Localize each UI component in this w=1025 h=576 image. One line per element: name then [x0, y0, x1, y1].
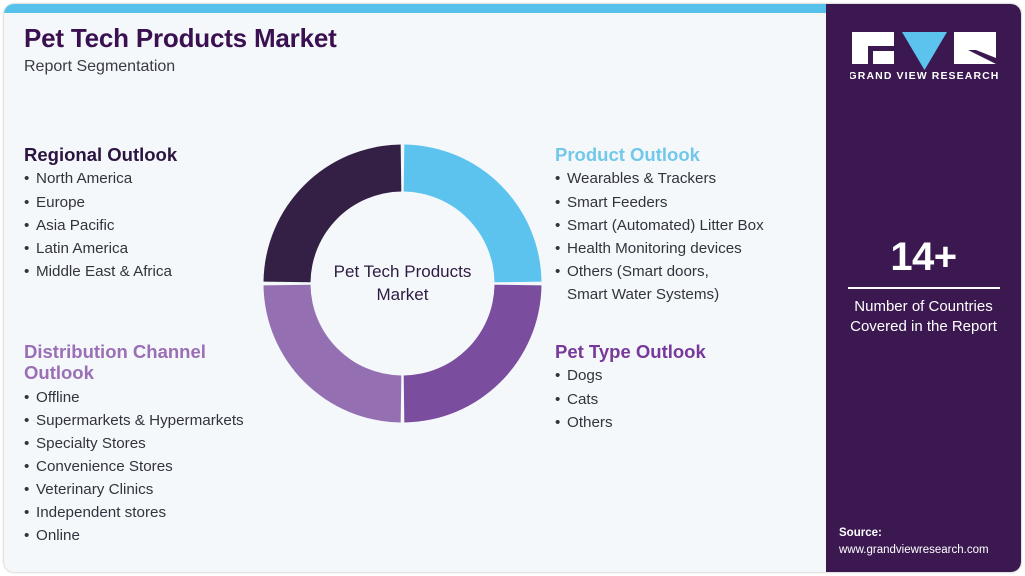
list-item: North America [24, 167, 274, 190]
segment-block-product: Product Outlook Wearables & Trackers Sma… [555, 144, 823, 306]
list-item: Smart Feeders [555, 191, 823, 214]
donut-chart: Pet Tech Products Market [261, 142, 544, 425]
segment-list-regional: North America Europe Asia Pacific Latin … [24, 167, 274, 282]
segment-block-regional: Regional Outlook North America Europe As… [24, 144, 274, 283]
list-item: Asia Pacific [24, 214, 274, 237]
donut-segment-product-outlook [404, 145, 542, 283]
segment-list-product: Wearables & Trackers Smart Feeders Smart… [555, 167, 823, 306]
header: Pet Tech Products Market Report Segmenta… [24, 24, 784, 76]
grand-view-research-logo: GRAND VIEW RESEARCH [850, 30, 998, 82]
donut-svg [261, 142, 544, 425]
stat-block: 14+ Number of Countries Covered in the R… [826, 237, 1021, 337]
list-item: Veterinary Clinics [24, 478, 324, 501]
list-item: Online [24, 524, 324, 547]
donut-segment-regional-outlook [264, 145, 402, 283]
list-item: Specialty Stores [24, 432, 324, 455]
donut-segment-pet-type-outlook [404, 285, 542, 423]
side-panel: GRAND VIEW RESEARCH 14+ Number of Countr… [826, 4, 1021, 572]
segment-title-product: Product Outlook [555, 144, 823, 165]
list-item: Dogs [555, 364, 805, 387]
list-item: Independent stores [24, 501, 324, 524]
stat-label: Number of Countries Covered in the Repor… [826, 297, 1021, 338]
list-item: Smart (Automated) Litter Box [555, 214, 823, 237]
stat-divider [848, 287, 1000, 289]
page-subtitle: Report Segmentation [24, 58, 784, 76]
logo-wordmark: GRAND VIEW RESEARCH [850, 70, 998, 82]
source-heading: Source: [839, 525, 989, 541]
list-item: Convenience Stores [24, 455, 324, 478]
segment-list-pet-type: Dogs Cats Others [555, 364, 805, 433]
source-url[interactable]: www.grandviewresearch.com [839, 542, 989, 558]
page-title: Pet Tech Products Market [24, 24, 784, 54]
segment-title-pet-type: Pet Type Outlook [555, 341, 805, 362]
infographic-root: Pet Tech Products Market Report Segmenta… [0, 0, 1025, 576]
list-item: Latin America [24, 237, 274, 260]
segment-title-regional: Regional Outlook [24, 144, 274, 165]
logo-mark: GRAND VIEW RESEARCH [850, 30, 998, 82]
list-item: Wearables & Trackers [555, 167, 823, 190]
source-block: Source: www.grandviewresearch.com [839, 525, 989, 558]
top-accent-bar [4, 4, 826, 13]
list-item: Europe [24, 191, 274, 214]
list-item: Middle East & Africa [24, 260, 274, 283]
list-item: Others (Smart doors, Smart Water Systems… [555, 260, 823, 306]
list-item: Health Monitoring devices [555, 237, 823, 260]
donut-segment-distribution-channel-outlook [264, 285, 402, 423]
list-item: Cats [555, 388, 805, 411]
main-card: Pet Tech Products Market Report Segmenta… [4, 4, 1021, 572]
segment-block-pet-type: Pet Type Outlook Dogs Cats Others [555, 341, 805, 434]
list-item: Others [555, 411, 805, 434]
stat-value: 14+ [826, 237, 1021, 277]
